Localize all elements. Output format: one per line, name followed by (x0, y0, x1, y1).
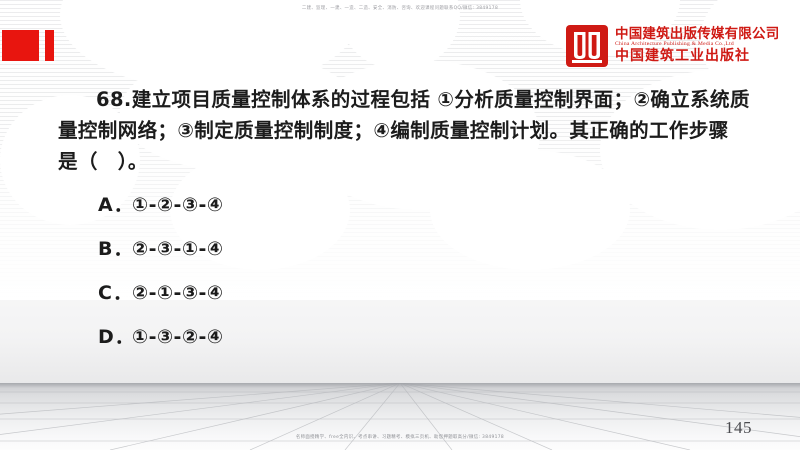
horizon-line (0, 383, 800, 388)
option-value-d: ①-③-②-④ (132, 326, 224, 348)
answer-option-a[interactable]: A． ①-②-③-④ (98, 190, 498, 234)
question-paragraph: 68.建立项目质量控制体系的过程包括 ①分析质量控制界面；②确立系统质 量控制网… (58, 84, 758, 177)
option-value-a: ①-②-③-④ (132, 194, 224, 216)
slide-content: 68.建立项目质量控制体系的过程包括 ①分析质量控制界面；②确立系统质 量控制网… (0, 0, 800, 383)
answer-options-list: A． ①-②-③-④ B． ②-③-①-④ C． ②-①-③-④ D． ①-③-… (98, 190, 498, 366)
option-key-c: C． (98, 278, 132, 305)
option-value-b: ②-③-①-④ (132, 238, 224, 260)
question-line-1: 68.建立项目质量控制体系的过程包括 ①分析质量控制界面；②确立系统质 (58, 84, 758, 115)
page-number: 145 (725, 418, 752, 438)
option-key-a: A． (98, 190, 132, 217)
answer-option-c[interactable]: C． ②-①-③-④ (98, 278, 498, 322)
question-line-2: 量控制网络；③制定质量控制制度；④编制质量控制计划。其正确的工作步骤 (58, 115, 758, 146)
question-line-3: 是（ ）。 (58, 146, 758, 177)
option-key-b: B． (98, 234, 132, 261)
presentation-slide: 中国建筑出版传媒有限公司 China Architecture Publishi… (0, 0, 800, 450)
option-value-c: ②-①-③-④ (132, 282, 224, 304)
watermark-bottom: 名师面授精学、free全内识、考点串讲、习题精考、模拟三页机、助您押题取高分/微… (0, 434, 800, 440)
answer-option-d[interactable]: D． ①-③-②-④ (98, 322, 498, 366)
option-key-d: D． (98, 322, 132, 349)
answer-option-b[interactable]: B． ②-③-①-④ (98, 234, 498, 278)
